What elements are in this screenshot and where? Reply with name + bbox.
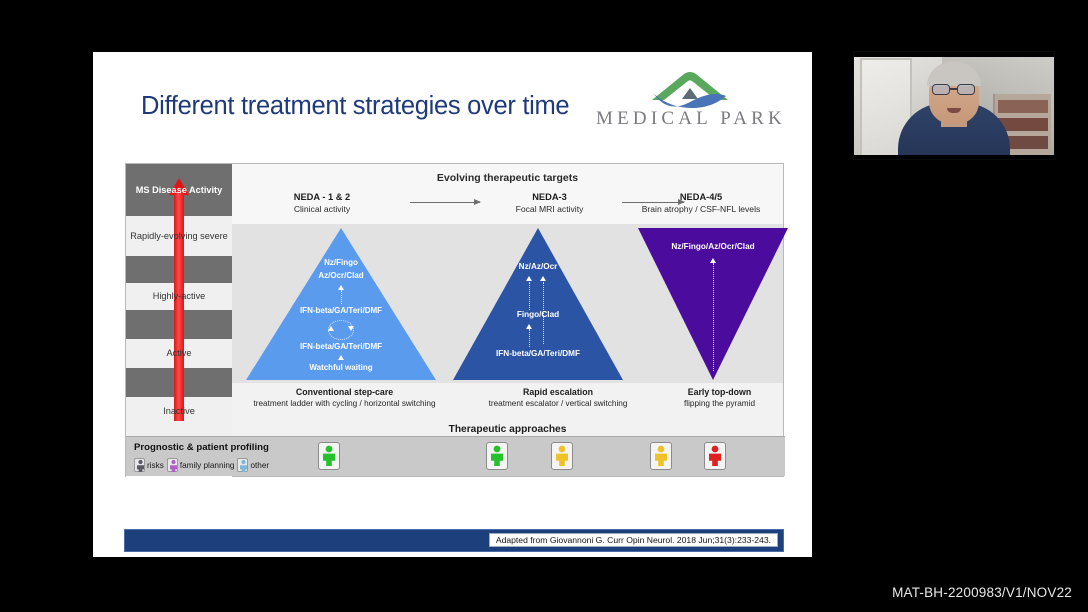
neda-column-3: NEDA-4/5 Brain atrophy / CSF-NFL levels [617,192,785,214]
caption-title: Early top-down [652,387,787,397]
status-marker-red [704,442,726,470]
presentation-slide: Different treatment strategies over time… [93,52,812,557]
person-icon [707,445,723,467]
dotted-connector [713,263,714,371]
citation-text: Adapted from Giovannoni G. Curr Opin Neu… [489,533,778,547]
caption-subtitle: treatment ladder with cycling / horizont… [232,399,457,408]
presenter-video-tile[interactable] [853,51,1055,160]
caption-conventional: Conventional step-care treatment ladder … [232,387,457,408]
up-arrow-icon [328,326,334,331]
glasses-bridge [950,88,958,90]
caption-escalation: Rapid escalation treatment escalator / v… [458,387,658,408]
pyramid-zone: Nz/Fingo Az/Ocr/Clad IFN-beta/GA/Teri/DM… [232,224,783,383]
axis-level-label: Active [166,348,191,359]
prognostic-title: Prognostic & patient profiling [134,442,269,453]
down-arrow-icon [348,326,354,331]
evolving-targets-header: Evolving therapeutic targets NEDA - 1 & … [232,164,783,224]
red-up-arrow-icon [174,192,184,421]
neda-sub: Focal MRI activity [482,204,617,214]
up-arrow-icon [540,276,546,281]
progression-arrow-1-icon [410,199,480,207]
person-icon [489,445,505,467]
caption-subtitle: flipping the pyramid [652,399,787,408]
neda-sub: Clinical activity [242,204,402,214]
caption-topdown: Early top-down flipping the pyramid [652,387,787,408]
logo-wordmark: MEDICAL PARK [596,108,778,130]
approach-captions: Conventional step-care treatment ladder … [232,383,783,438]
legend-label: other [250,461,269,470]
dotted-connector [529,329,530,347]
legend-label: family planning [180,461,235,470]
person-icon [134,458,145,472]
prognostic-legend: risks family planning other [134,458,269,472]
caption-title: Rapid escalation [458,387,658,397]
neda-name: NEDA-4/5 [617,192,785,202]
up-arrow-icon [338,355,344,360]
video-letterbox-bottom [854,155,1054,159]
dotted-connector [529,282,530,310]
pyramid-conventional: Nz/Fingo Az/Ocr/Clad IFN-beta/GA/Teri/DM… [246,228,436,380]
dotted-connector [341,290,342,304]
status-marker-yellow-2 [650,442,672,470]
neda-name: NEDA - 1 & 2 [242,192,402,202]
targets-heading: Evolving therapeutic targets [232,172,783,184]
person-icon [653,445,669,467]
ms-disease-activity-axis: MS Disease Activity Rapidly-evolving sev… [126,164,232,478]
video-letterbox-top [854,52,1054,57]
caption-title: Conventional step-care [232,387,457,397]
page-title: Different treatment strategies over time [141,92,569,121]
pyramid-shape-escalation [453,228,623,380]
person-icon [237,458,248,472]
status-marker-green-2 [486,442,508,470]
pyramid-escalation: Nz/Az/Ocr Fingo/Clad IFN-beta/GA/Teri/DM… [453,228,623,380]
axis-heading: MS Disease Activity [136,185,222,196]
axis-level-label: Inactive [163,406,195,417]
neda-column-1: NEDA - 1 & 2 Clinical activity [242,192,402,214]
legend-item-other: other [237,458,269,472]
axis-level-label: Rapidly-evolving severe [130,231,228,242]
legend-item-risks: risks [134,458,164,472]
legend-label: risks [147,461,164,470]
neda-name: NEDA-3 [482,192,617,202]
neda-column-2: NEDA-3 Focal MRI activity [482,192,617,214]
treatment-strategy-diagram: MS Disease Activity Rapidly-evolving sev… [125,163,784,477]
medical-park-logo: MEDICAL PARK [596,70,778,140]
status-marker-yellow-1 [551,442,573,470]
dotted-connector [543,282,544,344]
legend-item-family-planning: family planning [167,458,235,472]
glasses-icon [957,84,975,95]
prognostic-profiling-bar: Prognostic & patient profiling risks fam… [126,436,785,476]
mountain-swoosh-logo-icon [644,70,736,108]
screen: Different treatment strategies over time… [0,0,1088,612]
up-arrow-icon [526,276,532,281]
slide-footer-bar: Adapted from Giovannoni G. Curr Opin Neu… [124,529,784,552]
neda-sub: Brain atrophy / CSF-NFL levels [617,204,785,214]
therapeutic-approaches-label: Therapeutic approaches [232,424,783,435]
glasses-icon [932,84,950,95]
status-marker-green-1 [318,442,340,470]
person-icon [321,445,337,467]
pyramid-topdown: Nz/Fingo/Az/Ocr/Clad [638,228,788,380]
axis-level-label: Highly-active [153,291,206,302]
person-icon [554,445,570,467]
approval-code-watermark: MAT-BH-2200983/V1/NOV22 [892,585,1072,600]
caption-subtitle: treatment escalator / vertical switching [458,399,658,408]
person-icon [167,458,178,472]
